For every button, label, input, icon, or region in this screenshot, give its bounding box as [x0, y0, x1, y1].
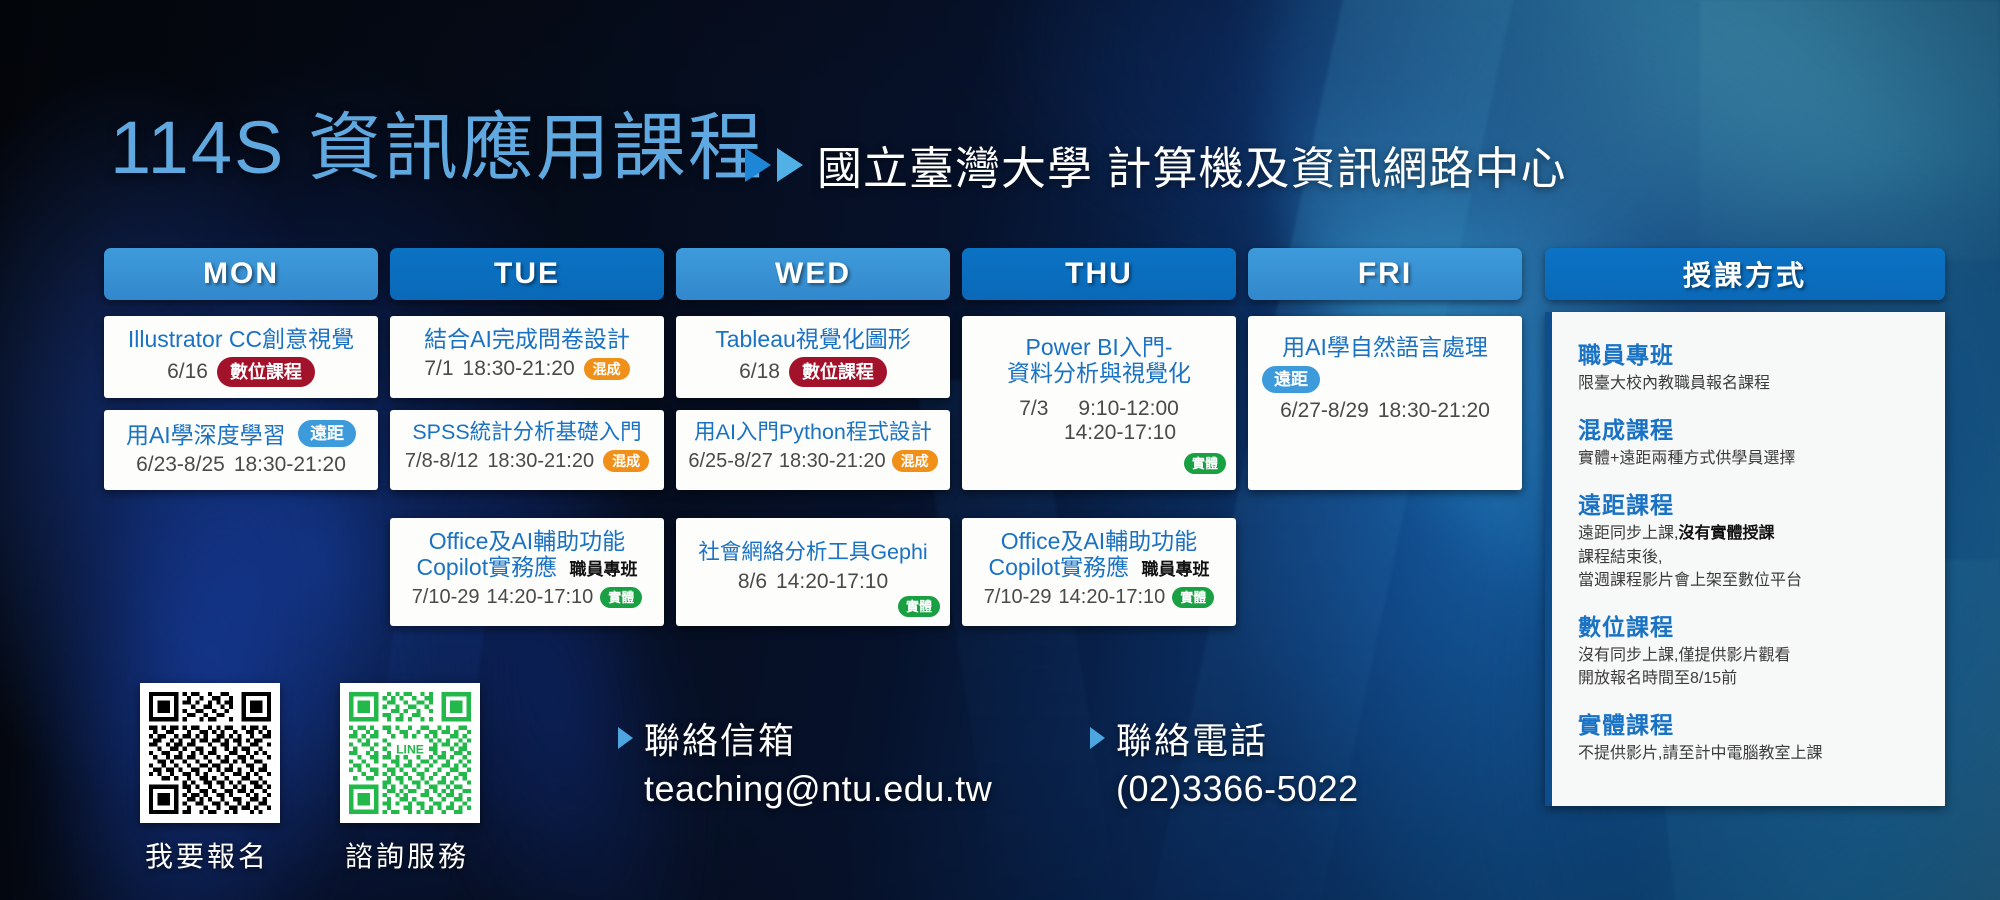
course-date: 7/10-29 — [984, 586, 1052, 609]
course-title-line1: Office及AI輔助功能 — [972, 528, 1226, 554]
qr-pattern — [149, 692, 271, 814]
course-date: 6/18 — [739, 360, 780, 384]
badge-remote: 遠距 — [1262, 366, 1320, 393]
course-meta-line2: 14:20-17:10 — [972, 421, 1226, 445]
badge-digital: 數位課程 — [217, 357, 315, 387]
day-label: TUE — [494, 257, 560, 291]
legend-desc-a: 遠距同步上課, — [1578, 525, 1678, 542]
course-meta: 6/25-8/27 18:30-21:20 混成 — [686, 450, 940, 473]
legend-desc-line1: 沒有同步上課,僅提供影片觀看 — [1578, 644, 1945, 667]
day-header-thu[interactable]: THU — [962, 248, 1236, 300]
badge-mixed: 混成 — [892, 450, 938, 472]
course-time: 14:20-17:10 — [776, 570, 888, 594]
day-label: FRI — [1358, 257, 1412, 291]
legend-title: 數位課程 — [1578, 608, 1945, 642]
legend-title: 職員專班 — [1578, 336, 1945, 370]
day-header-wed[interactable]: WED — [676, 248, 950, 300]
course-title: Tableau視覺化圖形 — [686, 326, 940, 352]
day-header-mon[interactable]: MON — [104, 248, 378, 300]
legend-desc-b: 沒有實體授課 — [1678, 525, 1774, 542]
legend-item-staff: 職員專班 限臺大校內教職員報名課程 — [1578, 336, 1945, 395]
triangle-bullet-icon — [1090, 727, 1105, 749]
course-card-tue-1[interactable]: 結合AI完成問卷設計 7/1 18:30-21:20 混成 — [390, 316, 664, 398]
course-meta: 7/8-8/12 18:30-21:20 混成 — [400, 450, 654, 473]
course-date: 7/1 — [424, 357, 453, 381]
contact-phone-label: 聯絡電話 — [1116, 712, 1268, 764]
day-label: WED — [775, 257, 851, 291]
contact-phone[interactable]: 聯絡電話 (02)3366-5022 — [1090, 712, 1359, 810]
badge-digital: 數位課程 — [789, 357, 887, 387]
legend-desc: 限臺大校內教職員報名課程 — [1578, 372, 1945, 395]
legend-item-mixed: 混成課程 實體+遠距兩種方式供學員選擇 — [1578, 411, 1945, 470]
legend-desc-line1: 遠距同步上課,沒有實體授課 — [1578, 522, 1945, 545]
course-title-line2: 資料分析與視覺化 — [972, 360, 1226, 386]
badge-physical: 實體 — [1184, 453, 1226, 474]
page-title: 114S 資訊應用課程 — [110, 88, 764, 195]
course-meta: 6/23-8/25 18:30-21:20 — [114, 453, 368, 477]
badge-staff-only: 職員專班 — [1142, 560, 1210, 579]
line-logo-text: LINE — [396, 742, 424, 756]
course-meta: 7/10-29 14:20-17:10 實體 — [400, 586, 654, 609]
badge-mixed: 混成 — [584, 358, 630, 380]
registration-qr-caption: 我要報名 — [145, 835, 269, 875]
header-subtitle: 國立臺灣大學 計算機及資訊網路中心 — [745, 132, 1567, 197]
course-meta-line1: 7/3 9:10-12:00 — [972, 397, 1226, 421]
course-meta: 6/27-8/29 18:30-21:20 — [1258, 399, 1512, 423]
course-title: 用AI學深度學習 — [126, 422, 286, 448]
day-header-fri[interactable]: FRI — [1248, 248, 1522, 300]
legend-item-digital: 數位課程 沒有同步上課,僅提供影片觀看 開放報名時間至8/15前 — [1578, 608, 1945, 690]
main-title-text: 114S 資訊應用課程 — [110, 88, 764, 195]
badge-remote: 遠距 — [298, 420, 356, 447]
course-card-tue-2[interactable]: SPSS統計分析基礎入門 7/8-8/12 18:30-21:20 混成 — [390, 410, 664, 490]
contact-email-header: 聯絡信箱 — [618, 712, 992, 764]
course-meta: 7/10-29 14:20-17:10 實體 — [972, 586, 1226, 609]
course-title-line1: Power BI入門- — [972, 334, 1226, 360]
course-title: SPSS統計分析基礎入門 — [400, 420, 654, 445]
course-card-tue-3[interactable]: Office及AI輔助功能 Copilot實務應 職員專班 7/10-29 14… — [390, 518, 664, 626]
course-time: 18:30-21:20 — [463, 357, 575, 381]
course-time: 18:30-21:20 — [487, 450, 594, 473]
course-title-text: Copilot實務應 — [417, 554, 558, 580]
badge-row: 實體 — [972, 453, 1226, 474]
course-meta: 7/1 18:30-21:20 混成 — [400, 357, 654, 381]
legend-desc-line2: 開放報名時間至8/15前 — [1578, 667, 1945, 690]
legend-desc: 不提供影片,請至計中電腦教室上課 — [1578, 742, 1945, 765]
legend-title: 遠距課程 — [1578, 486, 1945, 520]
course-title: 社會網絡分析工具Gephi — [686, 540, 940, 565]
double-arrow-icon — [745, 148, 803, 182]
contact-phone-header: 聯絡電話 — [1090, 712, 1359, 764]
organization-name: 國立臺灣大學 計算機及資訊網路中心 — [817, 132, 1567, 197]
course-title: Illustrator CC創意視覺 — [114, 326, 368, 352]
course-title-line1: Office及AI輔助功能 — [400, 528, 654, 554]
course-card-wed-3[interactable]: 社會網絡分析工具Gephi 8/6 14:20-17:10 實體 — [676, 518, 950, 626]
course-date: 7/3 — [1019, 397, 1048, 421]
course-time: 14:20-17:10 — [1059, 586, 1166, 609]
course-meta: 6/18 數位課程 — [686, 357, 940, 387]
course-title-line2: Copilot實務應 職員專班 — [400, 554, 654, 580]
legend-heading-text: 授課方式 — [1683, 254, 1807, 294]
course-meta: 6/16 數位課程 — [114, 357, 368, 387]
course-date: 6/27-8/29 — [1280, 399, 1369, 423]
contact-email-value[interactable]: teaching@ntu.edu.tw — [644, 768, 992, 810]
legend-panel: 職員專班 限臺大校內教職員報名課程 混成課程 實體+遠距兩種方式供學員選擇 遠距… — [1545, 312, 1945, 806]
registration-qr-code[interactable] — [140, 683, 280, 823]
day-label: THU — [1065, 257, 1133, 291]
course-time-pm: 14:20-17:10 — [1064, 421, 1176, 445]
course-title-text: Copilot實務應 — [989, 554, 1130, 580]
course-time: 18:30-21:20 — [779, 450, 886, 473]
legend-title: 實體課程 — [1578, 706, 1945, 740]
course-date: 8/6 — [738, 570, 767, 594]
course-date: 6/16 — [167, 360, 208, 384]
course-card-thu-2[interactable]: Office及AI輔助功能 Copilot實務應 職員專班 7/10-29 14… — [962, 518, 1236, 626]
badge-row: 遠距 — [1262, 366, 1512, 393]
legend-title: 混成課程 — [1578, 411, 1945, 445]
course-date: 6/25-8/27 — [688, 450, 773, 473]
course-title-line2: Copilot實務應 職員專班 — [972, 554, 1226, 580]
legend-desc: 實體+遠距兩種方式供學員選擇 — [1578, 447, 1945, 470]
course-date: 7/8-8/12 — [405, 450, 478, 473]
course-meta: 8/6 14:20-17:10 — [686, 570, 940, 594]
day-header-tue[interactable]: TUE — [390, 248, 664, 300]
legend-item-physical: 實體課程 不提供影片,請至計中電腦教室上課 — [1578, 706, 1945, 765]
badge-physical: 實體 — [600, 587, 642, 608]
day-label: MON — [203, 257, 279, 291]
contact-phone-value[interactable]: (02)3366-5022 — [1116, 768, 1359, 810]
badge-row: 實體 — [686, 596, 940, 617]
line-qr-caption: 諮詢服務 — [345, 835, 469, 875]
course-time: 14:20-17:10 — [487, 586, 594, 609]
course-title: 用AI學自然語言處理 — [1258, 334, 1512, 360]
course-card-wed-1[interactable]: Tableau視覺化圖形 6/18 數位課程 — [676, 316, 950, 398]
qr-pattern: LINE — [349, 692, 471, 814]
contact-email-label: 聯絡信箱 — [644, 712, 796, 764]
course-date: 6/23-8/25 — [136, 453, 225, 477]
legend-heading: 授課方式 — [1545, 248, 1945, 300]
course-time: 18:30-21:20 — [1378, 399, 1490, 423]
legend-desc-line2: 課程結束後, — [1578, 546, 1945, 569]
course-time: 18:30-21:20 — [234, 453, 346, 477]
triangle-bullet-icon — [618, 727, 633, 749]
legend-desc-line3: 當週課程影片會上架至數位平台 — [1578, 569, 1945, 592]
badge-mixed: 混成 — [603, 450, 649, 472]
contact-email[interactable]: 聯絡信箱 teaching@ntu.edu.tw — [618, 712, 992, 810]
course-title: 用AI入門Python程式設計 — [686, 420, 940, 445]
course-card-thu-1[interactable]: Power BI入門- 資料分析與視覺化 7/3 9:10-12:00 14:2… — [962, 316, 1236, 490]
course-title: 結合AI完成問卷設計 — [400, 326, 654, 352]
course-card-wed-2[interactable]: 用AI入門Python程式設計 6/25-8/27 18:30-21:20 混成 — [676, 410, 950, 490]
line-qr-code[interactable]: LINE — [340, 683, 480, 823]
badge-staff-only: 職員專班 — [570, 560, 638, 579]
legend-item-remote: 遠距課程 遠距同步上課,沒有實體授課 課程結束後, 當週課程影片會上架至數位平台 — [1578, 486, 1945, 592]
course-card-mon-1[interactable]: Illustrator CC創意視覺 6/16 數位課程 — [104, 316, 378, 398]
badge-physical: 實體 — [1172, 587, 1214, 608]
course-time-am: 9:10-12:00 — [1078, 397, 1178, 421]
course-card-fri-1[interactable]: 用AI學自然語言處理 遠距 6/27-8/29 18:30-21:20 — [1248, 316, 1522, 490]
course-title-row: 用AI學深度學習 遠距 — [114, 420, 368, 448]
course-card-mon-2[interactable]: 用AI學深度學習 遠距 6/23-8/25 18:30-21:20 — [104, 410, 378, 490]
course-date: 7/10-29 — [412, 586, 480, 609]
badge-physical: 實體 — [898, 596, 940, 617]
